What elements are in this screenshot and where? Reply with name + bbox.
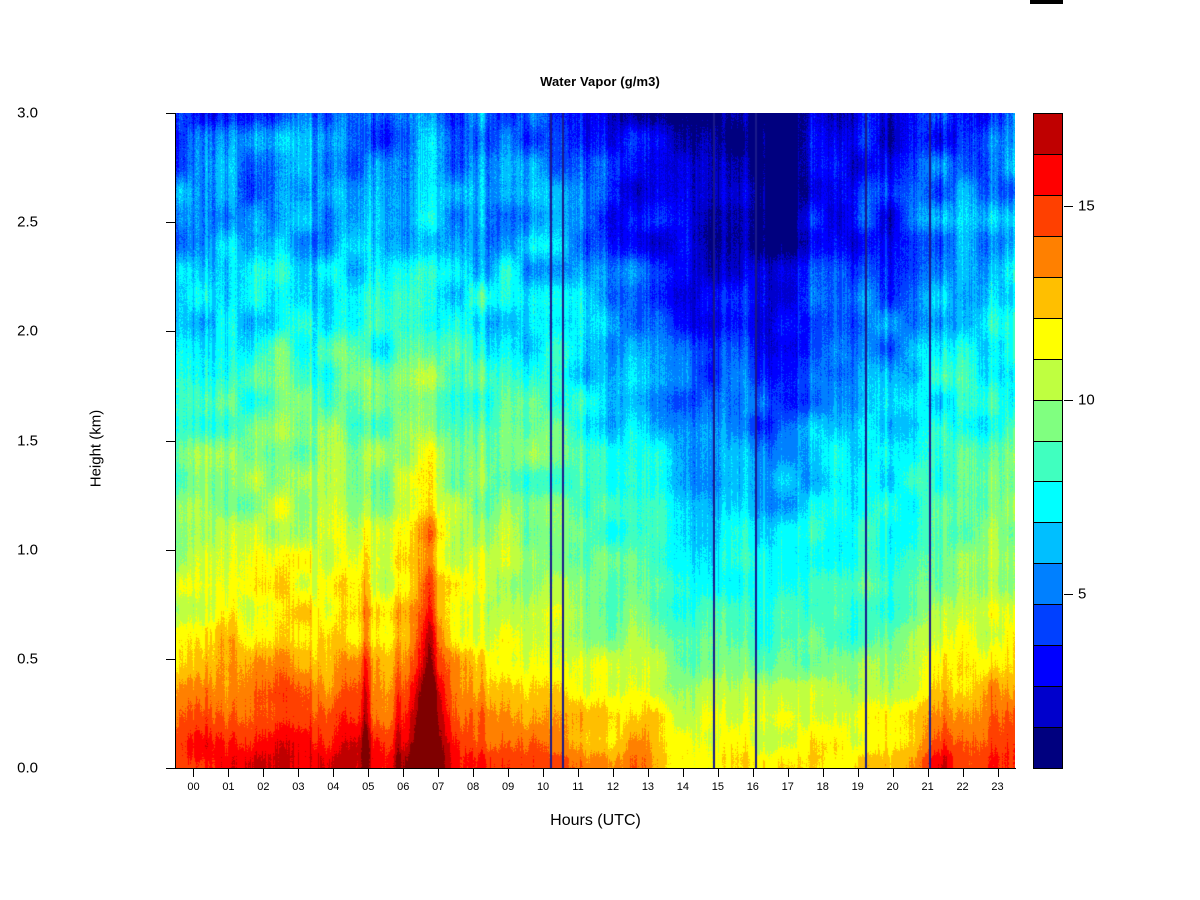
- colorbar-block: [1033, 686, 1063, 728]
- y-tick-mark: [166, 768, 175, 769]
- x-tick-mark: [473, 769, 474, 777]
- x-tick-mark: [333, 769, 334, 777]
- colorbar-block: [1033, 277, 1063, 319]
- page-title: Water Vapor (g/m3): [0, 74, 1200, 89]
- x-tick-mark: [718, 769, 719, 777]
- y-tick-mark: [166, 222, 175, 223]
- x-tick-label: 07: [432, 781, 444, 793]
- colorbar-block: [1033, 318, 1063, 360]
- x-tick-mark: [648, 769, 649, 777]
- y-tick-mark: [166, 113, 175, 114]
- y-tick-label: 2.0: [17, 323, 38, 340]
- x-tick-mark: [998, 769, 999, 777]
- colorbar-block: [1033, 154, 1063, 196]
- x-tick-label: 08: [467, 781, 479, 793]
- colorbar-block: [1033, 236, 1063, 278]
- x-tick-mark: [613, 769, 614, 777]
- y-tick-mark: [166, 659, 175, 660]
- x-tick-label: 09: [502, 781, 514, 793]
- x-tick-mark: [683, 769, 684, 777]
- y-tick-label: 0.5: [17, 650, 38, 667]
- x-tick-label: 10: [537, 781, 549, 793]
- colorbar-block: [1033, 481, 1063, 523]
- x-tick-label: 23: [991, 781, 1003, 793]
- x-tick-label: 11: [572, 781, 583, 793]
- x-tick-mark: [578, 769, 579, 777]
- x-tick-label: 16: [747, 781, 759, 793]
- y-tick-mark: [166, 550, 175, 551]
- x-tick-mark: [368, 769, 369, 777]
- x-tick-label: 00: [187, 781, 199, 793]
- y-axis-line: [175, 113, 176, 769]
- x-tick-label: 06: [397, 781, 409, 793]
- y-tick-label: 1.0: [17, 541, 38, 558]
- x-tick-mark: [753, 769, 754, 777]
- x-tick-label: 22: [956, 781, 968, 793]
- colorbar-block: [1033, 604, 1063, 646]
- x-tick-mark: [263, 769, 264, 777]
- x-tick-label: 19: [852, 781, 864, 793]
- x-tick-mark: [438, 769, 439, 777]
- heatmap-plot-area: [176, 113, 1015, 768]
- top-artifact-bar: [1030, 0, 1063, 4]
- x-tick-label: 02: [257, 781, 269, 793]
- y-tick-mark: [166, 441, 175, 442]
- colorbar-block: [1033, 441, 1063, 483]
- x-tick-mark: [823, 769, 824, 777]
- y-tick-label: 1.5: [17, 432, 38, 449]
- x-tick-mark: [858, 769, 859, 777]
- colorbar-block: [1033, 563, 1063, 605]
- x-tick-mark: [298, 769, 299, 777]
- x-tick-mark: [963, 769, 964, 777]
- x-axis-line: [176, 768, 1016, 769]
- x-tick-mark: [928, 769, 929, 777]
- x-tick-label: 01: [222, 781, 234, 793]
- x-tick-mark: [543, 769, 544, 777]
- x-tick-mark: [508, 769, 509, 777]
- x-axis-title: Hours (UTC): [176, 812, 1015, 830]
- colorbar-tick-mark: [1064, 400, 1073, 401]
- colorbar-block: [1033, 195, 1063, 237]
- x-tick-label: 18: [817, 781, 829, 793]
- x-tick-label: 12: [607, 781, 619, 793]
- x-tick-mark: [788, 769, 789, 777]
- colorbar-block: [1033, 113, 1063, 155]
- colorbar: [1033, 113, 1063, 768]
- colorbar-block: [1033, 359, 1063, 401]
- colorbar-tick-label: 10: [1078, 391, 1095, 408]
- y-tick-mark: [166, 331, 175, 332]
- y-tick-label: 0.0: [17, 760, 38, 777]
- y-tick-label: 2.5: [17, 214, 38, 231]
- colorbar-block: [1033, 727, 1063, 769]
- colorbar-tick-mark: [1064, 206, 1073, 207]
- x-tick-label: 15: [712, 781, 724, 793]
- colorbar-tick-label: 15: [1078, 198, 1095, 215]
- colorbar-tick-mark: [1064, 594, 1073, 595]
- x-tick-label: 05: [362, 781, 374, 793]
- x-tick-label: 20: [887, 781, 899, 793]
- x-tick-label: 04: [327, 781, 339, 793]
- x-tick-mark: [403, 769, 404, 777]
- x-tick-label: 13: [642, 781, 654, 793]
- colorbar-tick-label: 5: [1078, 585, 1086, 602]
- x-tick-label: 03: [292, 781, 304, 793]
- y-tick-label: 3.0: [17, 105, 38, 122]
- y-axis-title: Height (km): [88, 349, 105, 549]
- x-tick-mark: [193, 769, 194, 777]
- figure-canvas: Water Vapor (g/m3) 0.00.51.01.52.02.53.0…: [0, 0, 1200, 900]
- x-tick-mark: [893, 769, 894, 777]
- x-tick-mark: [228, 769, 229, 777]
- colorbar-block: [1033, 645, 1063, 687]
- colorbar-block: [1033, 522, 1063, 564]
- x-tick-label: 21: [921, 781, 933, 793]
- x-tick-label: 14: [677, 781, 689, 793]
- x-tick-label: 17: [782, 781, 794, 793]
- colorbar-block: [1033, 400, 1063, 442]
- heatmap-canvas: [176, 113, 1015, 768]
